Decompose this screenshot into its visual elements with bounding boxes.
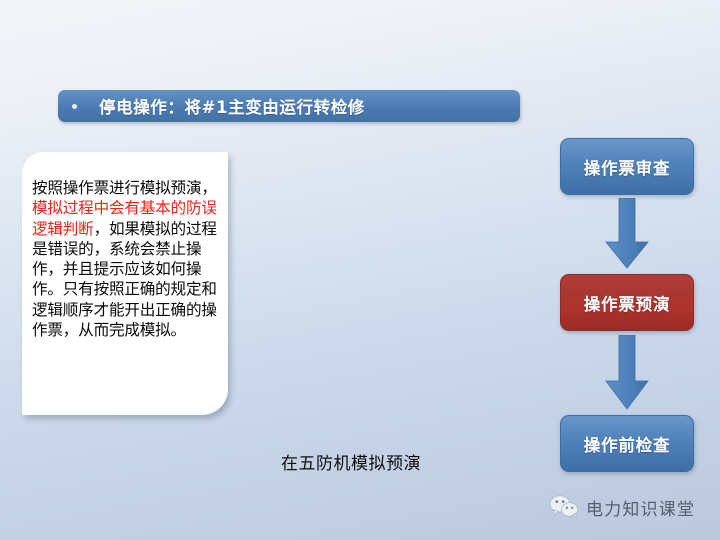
- flow-node-label: 操作前检查: [584, 432, 671, 456]
- note-text-part1: 按照操作票进行模拟预演，: [32, 179, 217, 197]
- page-title: 停电操作：将#1主变由运行转检修: [99, 94, 365, 118]
- flow-node-label: 操作票审查: [584, 155, 671, 179]
- bullet-dot-icon: [72, 104, 77, 109]
- flow-node-review[interactable]: 操作票审查: [560, 138, 694, 195]
- watermark-text: 电力知识课堂: [586, 495, 695, 520]
- note-card-text: 按照操作票进行模拟预演，模拟过程中会有基本的防误逻辑判断，如果模拟的过程是错误的…: [32, 178, 220, 340]
- diagram-caption: 在五防机模拟预演: [281, 449, 421, 474]
- slide-title-bar: 停电操作：将#1主变由运行转检修: [58, 90, 520, 122]
- wechat-icon: [549, 494, 579, 520]
- flow-arrow-down-icon: [604, 335, 650, 411]
- note-card: 按照操作票进行模拟预演，模拟过程中会有基本的防误逻辑判断，如果模拟的过程是错误的…: [22, 152, 228, 415]
- flow-node-rehearsal[interactable]: 操作票预演: [560, 274, 694, 331]
- flow-node-label: 操作票预演: [584, 291, 671, 315]
- flow-node-precheck[interactable]: 操作前检查: [560, 415, 694, 472]
- watermark: 电力知识课堂: [549, 494, 695, 520]
- slide-canvas: 停电操作：将#1主变由运行转检修 按照操作票进行模拟预演，模拟过程中会有基本的防…: [0, 0, 720, 540]
- flow-arrow-down-icon: [604, 198, 650, 270]
